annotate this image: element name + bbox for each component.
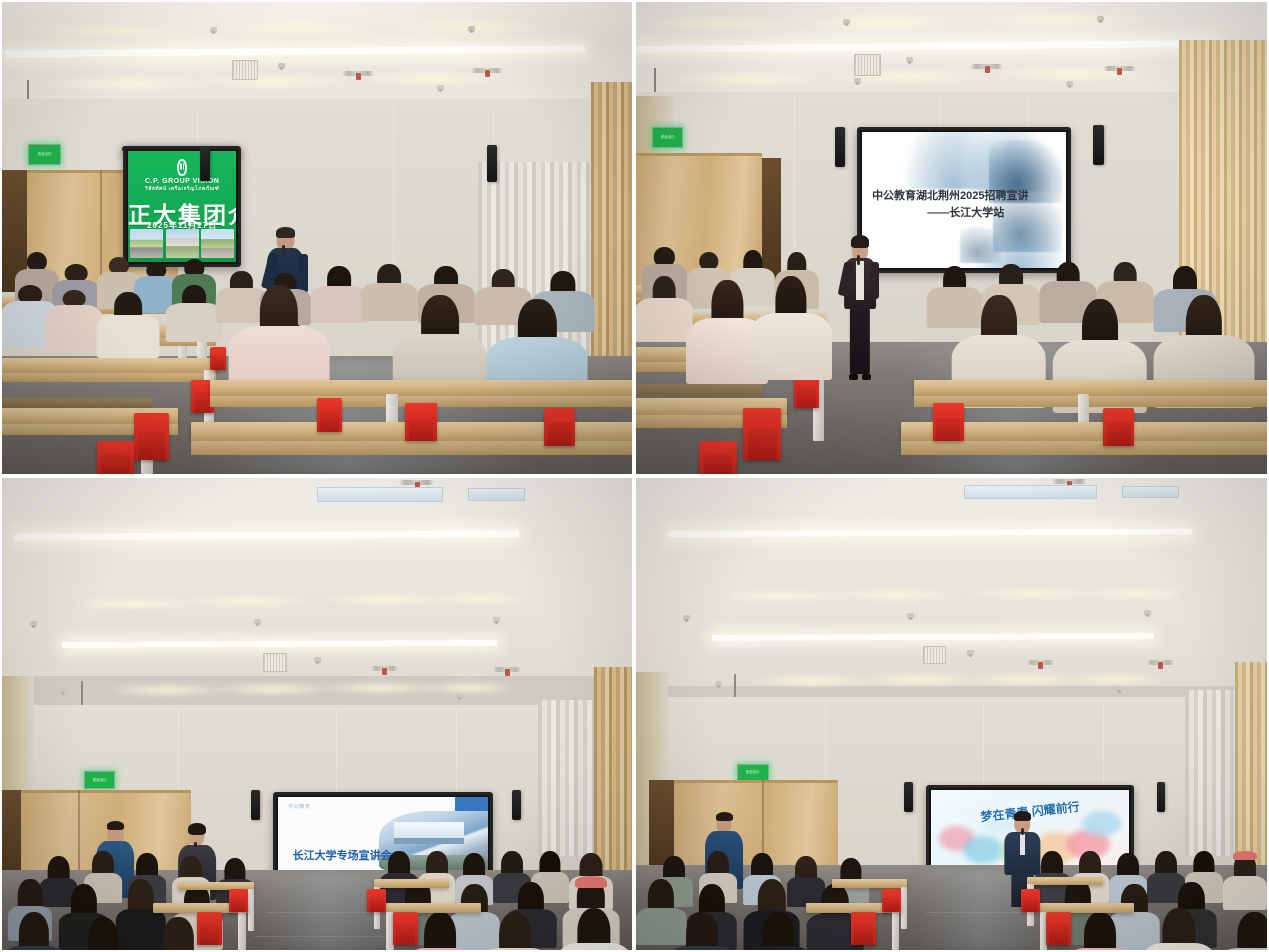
wall-speaker [1093,125,1103,165]
slide-ink-wash: 中公教育湖北荆州2025招聘宣讲 ——长江大学站 [862,132,1067,268]
ceiling-fan [342,71,374,76]
wall-speaker [904,782,913,811]
exit-sign: 安全出口 [652,127,684,148]
sprinkler-head [967,650,974,656]
photo-collage: 安全出口 C.P. GROUP VISION วิสัยทัศน์ เครือเ… [0,0,1269,952]
audience-member [97,292,160,358]
red-stool [197,912,222,945]
wall-speaker [200,146,209,181]
pink-cap [1233,851,1258,860]
sprinkler-head [907,613,914,619]
red-stool [851,912,876,945]
sprinkler-head [456,693,463,699]
slide-photo-strip [130,229,234,259]
audience-member-foreground [1217,912,1267,950]
student-desk [914,380,1267,396]
projector-mount [964,485,1097,499]
ceiling-fan [1103,66,1136,71]
exit-sign: 安全出口 [84,771,116,789]
sprinkler-head [906,57,913,63]
wall-speaker [835,127,845,167]
red-stool [699,441,737,474]
audience-member [71,917,134,950]
sprinkler-head [254,619,261,625]
sprinkler-head [278,63,285,69]
ceiling-fan [399,480,434,485]
red-stool [933,403,965,441]
sprinkler-head [437,85,444,91]
ceiling [636,478,1267,686]
wall-speaker [1157,782,1166,811]
red-stool [317,398,342,431]
exit-sign: 安全出口 [737,764,769,781]
photo-panel-top-left: 安全出口 C.P. GROUP VISION วิสัยทัศน์ เครือเ… [0,0,634,476]
vertical-blinds [1185,690,1235,855]
red-stool [743,408,781,460]
wall-speaker [512,790,521,821]
audience-member-foreground [556,908,632,950]
ac-vent [854,54,882,76]
ceiling-fan [970,64,1003,69]
slide-photo [201,229,234,259]
sprinkler-head [210,27,217,33]
cp-group-logo-icon [177,159,187,176]
wall-speaker [487,145,497,183]
sprinkler-head [493,617,500,623]
red-stool [393,912,418,945]
audience-member-foreground [1141,908,1217,950]
red-stool [544,408,576,446]
ceiling-fan [1052,479,1086,484]
red-stool [210,347,226,371]
red-stool [1103,408,1135,446]
presenter-legs [850,306,870,374]
presentation-screen[interactable]: 中公教育湖北荆州2025招聘宣讲 ——长江大学站 [857,127,1072,273]
ceiling-fan [493,667,521,672]
sprinkler-head [59,688,66,694]
ac-vent [263,653,287,673]
red-stool [405,403,437,441]
ceiling-fan [371,666,399,671]
presenter-person [838,238,882,380]
red-stool [1021,889,1040,913]
sprinkler-head [30,621,37,627]
red-stool [134,413,169,460]
student-desk [2,358,216,372]
projector-mount [468,488,525,500]
sprinkler-head [843,19,850,25]
pink-cap [575,876,607,887]
slide-line-th: วิสัยทัศน์ เครือเจริญโภคภัณฑ์ [128,185,236,193]
microphone [857,255,860,265]
audience-member [46,290,103,351]
slide-title-line1: 中公教育湖北荆州2025招聘宣讲 [872,187,1028,203]
red-stool [97,441,135,474]
slide-title: 长江大学专场宣讲会 [293,847,392,863]
wall-speaker [251,790,260,821]
ac-vent [923,646,946,665]
exit-sign: 安全出口 [28,144,61,166]
photo-panel-top-right: 安全出口 中公教育湖北荆州2025招聘宣讲 ——长江大学站 [634,0,1269,476]
red-stool [882,889,901,913]
sprinkler-head [1066,81,1073,87]
photo-panel-bottom-left: 安全出口 中公教育 长江大学专场宣讲会 [0,476,634,952]
student-desk [1027,877,1103,885]
red-stool [367,889,386,913]
student-desk [374,879,450,887]
slide-corner-mark: 中公教育 [288,803,310,810]
red-stool [1046,912,1071,945]
presentation-screen[interactable]: C.P. GROUP VISION วิสัยทัศน์ เครือเจริญโ… [123,146,241,266]
vertical-blinds [538,700,595,856]
ceiling-fan [471,68,503,73]
audience-member-foreground [750,276,832,380]
audience-member-foreground [743,912,812,950]
sprinkler-head [468,26,475,32]
microphone [1021,828,1024,835]
photo-panel-bottom-right: 安全出口 梦在青春 闪耀前行 [634,476,1269,952]
sprinkler-head [715,681,722,687]
sprinkler-head [683,615,690,621]
ac-vent [232,60,258,80]
audience-member-foreground [481,912,550,950]
slide-photo [166,229,199,259]
sprinkler-head [854,78,861,84]
sprinkler-head [1144,610,1151,616]
red-stool [229,889,248,913]
slide-cp-group: C.P. GROUP VISION วิสัยทัศน์ เครือเจริญโ… [128,151,236,261]
audience-member [1223,853,1267,910]
sprinkler-head [1097,16,1104,22]
audience-member [2,912,65,950]
ceiling-fan [1027,660,1054,665]
ceiling-fan [1147,660,1174,665]
sprinkler-head [314,657,321,663]
projector-mount [1122,486,1179,497]
slide-photo [130,229,163,259]
audience-member-foreground [668,912,737,950]
sprinkler-head [1116,686,1123,692]
audience-member-foreground [1065,912,1134,950]
presenter-arm [871,262,880,299]
audience-member [166,285,223,342]
projector-mount [317,487,443,501]
student-desk [210,380,632,396]
slide-title-line2: ——长江大学站 [927,204,1004,220]
student-desk [832,879,908,887]
audience-member [636,276,693,342]
